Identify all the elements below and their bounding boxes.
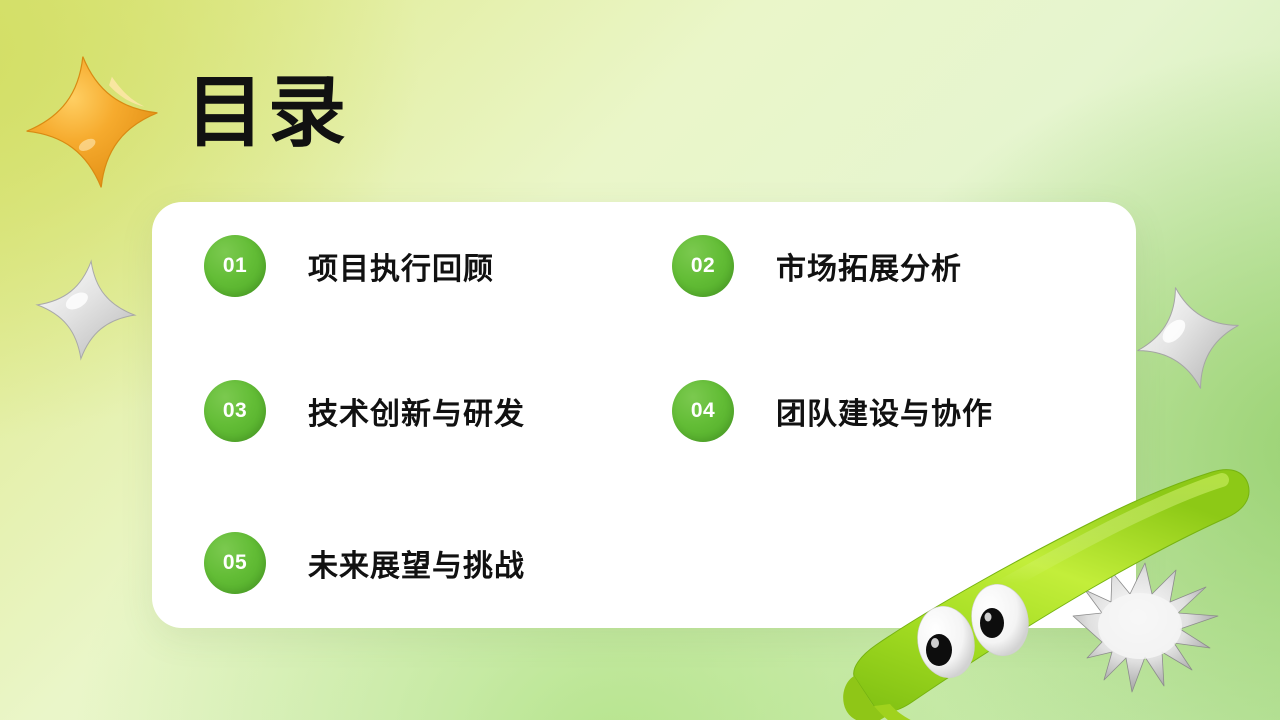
item-label: 未来展望与挑战 — [308, 541, 525, 585]
silver-balloon-star-right-icon — [1120, 270, 1256, 406]
item-label: 团队建设与协作 — [776, 389, 993, 433]
item-number: 04 — [691, 399, 715, 423]
orange-balloon-star-icon — [13, 43, 171, 201]
contents-item-03[interactable]: 03 技术创新与研发 — [204, 380, 525, 442]
item-label: 技术创新与研发 — [308, 389, 525, 433]
item-label: 市场拓展分析 — [776, 244, 962, 288]
slide-canvas: 01 项目执行回顾 02 市场拓展分析 03 技术创新与研发 04 团队建设与协… — [0, 0, 1280, 720]
item-number-badge: 02 — [672, 235, 734, 297]
item-number: 01 — [223, 254, 247, 278]
silver-balloon-star-left-icon — [29, 253, 143, 367]
contents-item-05[interactable]: 05 未来展望与挑战 — [204, 532, 525, 594]
item-label: 项目执行回顾 — [308, 244, 494, 288]
item-number-badge: 01 — [204, 235, 266, 297]
contents-item-02[interactable]: 02 市场拓展分析 — [672, 235, 962, 297]
contents-card: 01 项目执行回顾 02 市场拓展分析 03 技术创新与研发 04 团队建设与协… — [152, 202, 1136, 628]
item-number-badge: 05 — [204, 532, 266, 594]
contents-item-01[interactable]: 01 项目执行回顾 — [204, 235, 494, 297]
item-number-badge: 03 — [204, 380, 266, 442]
contents-item-04[interactable]: 04 团队建设与协作 — [672, 380, 993, 442]
item-number-badge: 04 — [672, 380, 734, 442]
item-number: 03 — [223, 399, 247, 423]
page-title: 目录 — [186, 72, 350, 154]
item-number: 05 — [223, 551, 247, 575]
item-number: 02 — [691, 254, 715, 278]
